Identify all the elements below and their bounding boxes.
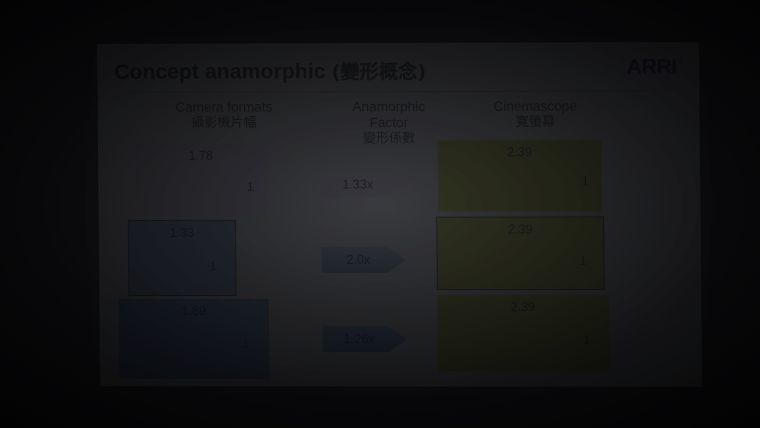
camera-format-height-2: 1 [210, 259, 217, 273]
cinemascope-height-3: 1 [583, 333, 590, 347]
cinemascope-height-1: 1 [582, 174, 589, 188]
anamorphic-factor-arrow-1-33x: 1.33x [321, 171, 406, 196]
cinemascope-box-3: 2.39 1 [437, 295, 610, 372]
cinemascope-box-2: 2.39 1 [436, 216, 605, 290]
slide-title-en: Concept anamorphic [114, 60, 326, 84]
cinemascope-height-2: 1 [579, 254, 586, 268]
title-divider [107, 90, 687, 93]
column-header-cinemascope-en: Cinemascope [439, 99, 631, 116]
cinemascope-ratio-1: 2.39 [438, 145, 602, 159]
anamorphic-factor-label-1: 1.33x [342, 177, 373, 191]
camera-format-box-1-78: 1.78 1 [135, 144, 267, 217]
cinemascope-box-1: 2.39 1 [437, 140, 602, 212]
anamorphic-factor-label-2: 2.0x [346, 253, 370, 267]
anamorphic-factor-label-3: 1.26x [344, 332, 375, 346]
camera-format-ratio-3: 1.89 [118, 304, 269, 318]
slide-title-cjk: (變形概念) [331, 61, 426, 83]
column-header-camera-formats-en: Camera formats [134, 99, 315, 115]
column-header-camera-formats: Camera formats 攝影機片幅 [134, 99, 315, 131]
cinemascope-ratio-3: 2.39 [437, 300, 609, 314]
column-header-cinemascope-cjk: 寬螢幕 [439, 115, 631, 131]
camera-format-box-1-33: 1.33 1 [128, 220, 237, 296]
cinemascope-ratio-2: 2.39 [437, 222, 603, 236]
camera-format-box-1-89: 1.89 1 [118, 299, 269, 379]
camera-format-ratio-2: 1.33 [129, 226, 235, 240]
anamorphic-factor-arrow-1-26x: 1.26x [322, 326, 407, 352]
column-header-cinemascope: Cinemascope 寬螢幕 [439, 99, 632, 131]
slide-surface: Concept anamorphic (變形概念) ARRI ® Camera … [97, 42, 702, 387]
photo-of-projected-slide: Concept anamorphic (變形概念) ARRI ® Camera … [0, 0, 760, 428]
arri-wordmark: ARRI [626, 56, 676, 79]
slide-canvas: Concept anamorphic (變形概念) ARRI ® Camera … [97, 42, 702, 387]
registered-trademark-icon: ® [677, 57, 683, 66]
camera-format-ratio-1: 1.78 [135, 149, 266, 163]
anamorphic-factor-arrow-2-0x: 2.0x [322, 247, 407, 273]
slide-title: Concept anamorphic (變形概念) [114, 57, 426, 85]
column-header-camera-formats-cjk: 攝影機片幅 [134, 115, 315, 131]
camera-format-height-3: 1 [242, 337, 249, 351]
camera-format-height-1: 1 [247, 180, 254, 194]
arri-logo: ARRI ® [627, 56, 682, 79]
